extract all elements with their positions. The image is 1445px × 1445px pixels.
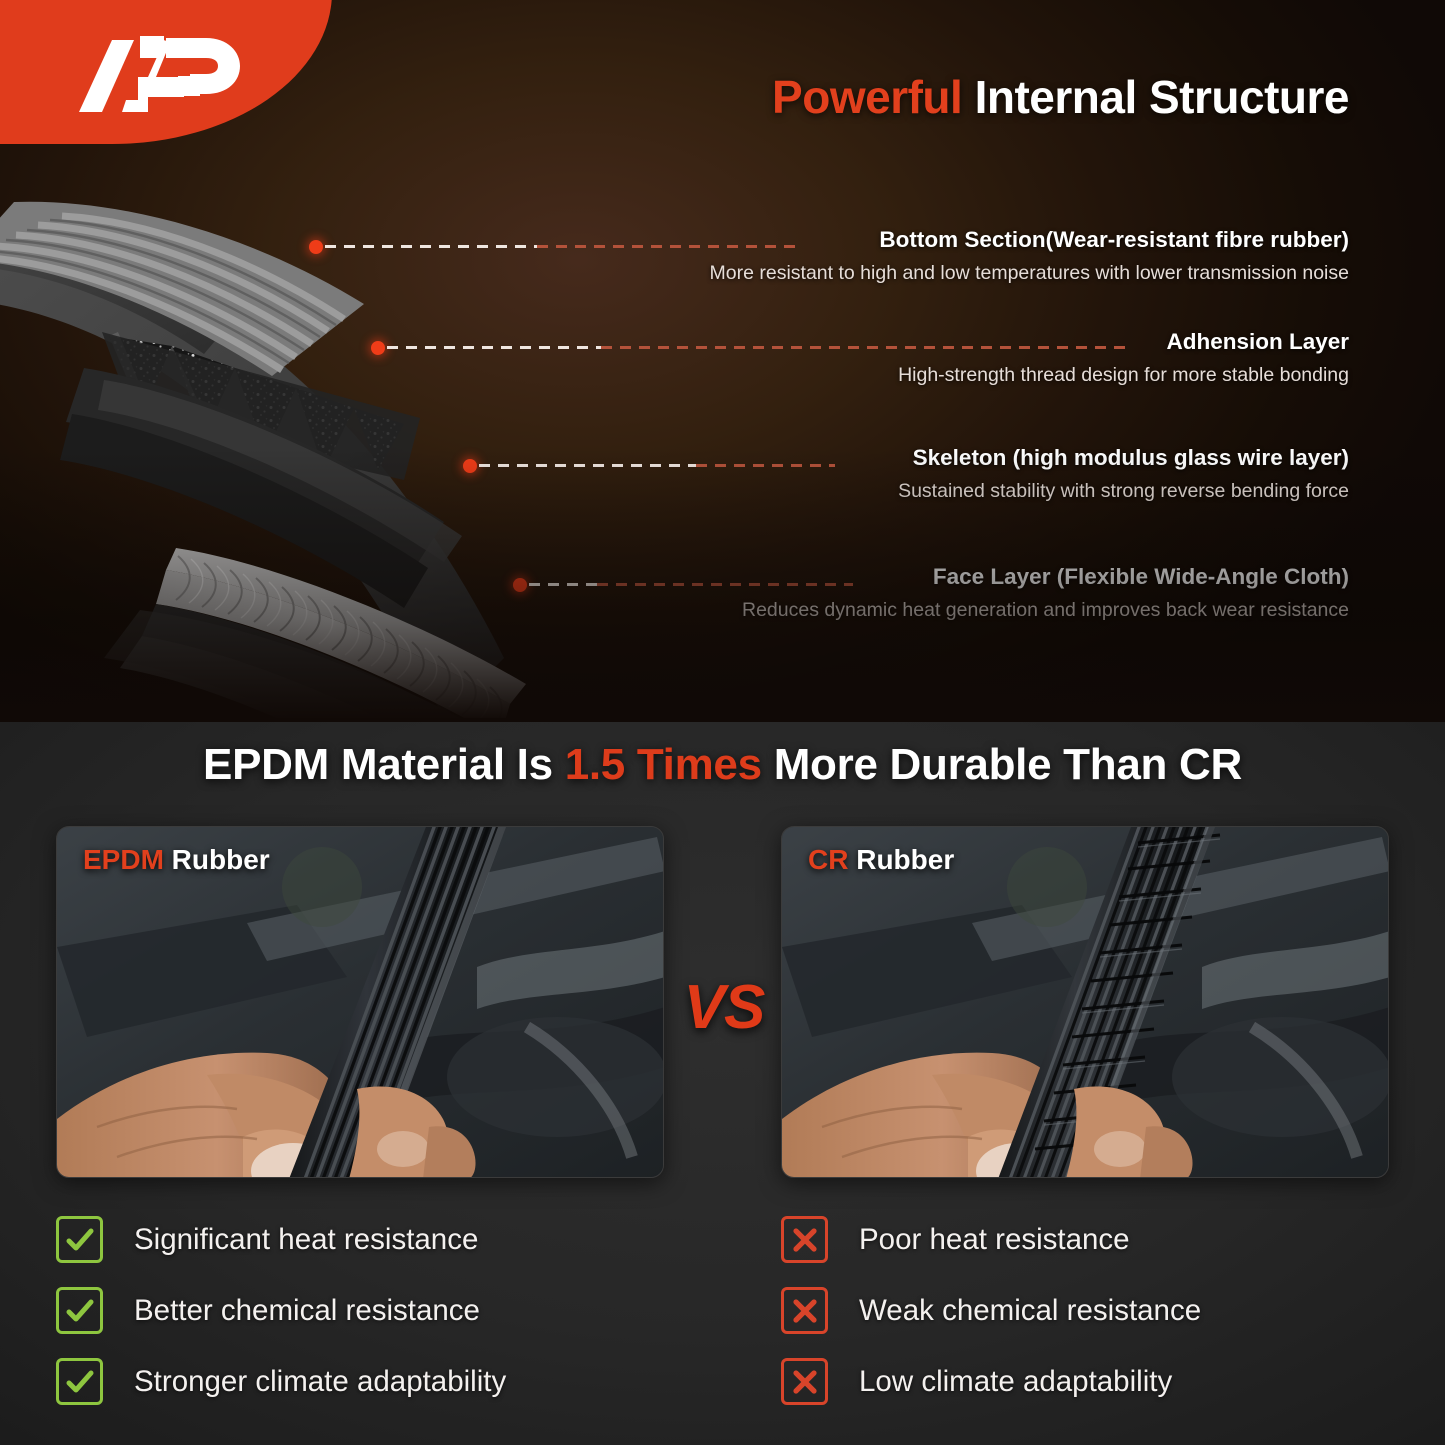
list-item: Significant heat resistance	[56, 1204, 696, 1275]
comparison-headline-highlight: 1.5 Times	[565, 740, 762, 789]
cross-icon	[781, 1358, 828, 1405]
cr-comparison-card: CR Rubber	[781, 826, 1389, 1178]
cr-card-label: CR Rubber	[808, 844, 954, 876]
check-icon	[56, 1287, 103, 1334]
material-comparison-section: EPDM Material Is 1.5 Times More Durable …	[0, 722, 1445, 1445]
list-item-label: Stronger climate adaptability	[134, 1365, 506, 1399]
callout-4: Face Layer (Flexible Wide-Angle Cloth) R…	[742, 565, 1349, 622]
infographic-page: Powerful Internal Structure Bottom Secti…	[0, 0, 1445, 1445]
a-premium-slash-hp-logo-icon	[60, 34, 250, 118]
check-icon	[56, 1358, 103, 1405]
check-icon	[56, 1216, 103, 1263]
list-item: Poor heat resistance	[781, 1204, 1421, 1275]
callout-1: Bottom Section(Wear-resistant fibre rubb…	[710, 228, 1349, 285]
list-item-label: Better chemical resistance	[134, 1294, 480, 1328]
epdm-advantages-list: Significant heat resistance Better chemi…	[56, 1204, 696, 1417]
comparison-headline-part1: EPDM Material Is	[203, 740, 565, 789]
list-item: Stronger climate adaptability	[56, 1346, 696, 1417]
epdm-card-label-rest: Rubber	[164, 844, 270, 875]
cr-disadvantages-list: Poor heat resistance Weak chemical resis…	[781, 1204, 1421, 1417]
callout-3-title: Skeleton (high modulus glass wire layer)	[898, 446, 1349, 471]
callout-3-subtitle: Sustained stability with strong reverse …	[898, 480, 1349, 503]
callout-2-subtitle: High-strength thread design for more sta…	[898, 364, 1349, 387]
epdm-card-label: EPDM Rubber	[83, 844, 270, 876]
epdm-card-label-highlight: EPDM	[83, 844, 164, 875]
list-item-label: Significant heat resistance	[134, 1223, 478, 1257]
callout-1-title: Bottom Section(Wear-resistant fibre rubb…	[710, 228, 1349, 253]
comparison-headline: EPDM Material Is 1.5 Times More Durable …	[0, 740, 1445, 790]
callout-3: Skeleton (high modulus glass wire layer)…	[898, 446, 1349, 503]
page-title-rest: Internal Structure	[962, 71, 1349, 123]
page-title-highlight: Powerful	[772, 71, 962, 123]
list-item-label: Low climate adaptability	[859, 1365, 1172, 1399]
callout-leader-3	[479, 464, 835, 467]
internal-structure-section: Powerful Internal Structure Bottom Secti…	[0, 0, 1445, 722]
callout-marker-1	[309, 240, 323, 254]
vs-label: VS	[676, 972, 772, 1044]
list-item: Better chemical resistance	[56, 1275, 696, 1346]
callout-2-title: Adhension Layer	[898, 330, 1349, 355]
cross-icon	[781, 1287, 828, 1334]
callout-2: Adhension Layer High-strength thread des…	[898, 330, 1349, 387]
callout-4-title: Face Layer (Flexible Wide-Angle Cloth)	[742, 565, 1349, 590]
cr-card-label-highlight: CR	[808, 844, 848, 875]
callout-4-subtitle: Reduces dynamic heat generation and impr…	[742, 599, 1349, 622]
callout-marker-3	[463, 459, 477, 473]
comparison-headline-part2: More Durable Than CR	[762, 740, 1242, 789]
list-item-label: Poor heat resistance	[859, 1223, 1130, 1257]
callout-marker-2	[371, 341, 385, 355]
cross-icon	[781, 1216, 828, 1263]
serpentine-belt-cutaway-illustration-icon	[0, 118, 644, 718]
list-item: Low climate adaptability	[781, 1346, 1421, 1417]
list-item: Weak chemical resistance	[781, 1275, 1421, 1346]
cr-card-label-rest: Rubber	[848, 844, 954, 875]
callout-1-subtitle: More resistant to high and low temperatu…	[710, 262, 1349, 285]
epdm-comparison-card: EPDM Rubber	[56, 826, 664, 1178]
page-title: Powerful Internal Structure	[772, 70, 1349, 124]
list-item-label: Weak chemical resistance	[859, 1294, 1201, 1328]
callout-marker-4	[513, 578, 527, 592]
